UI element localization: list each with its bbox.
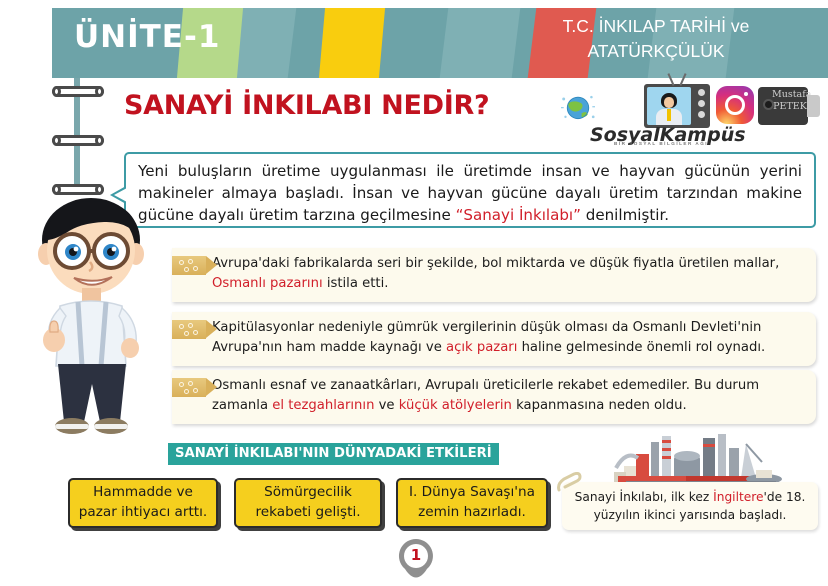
factory-illustration bbox=[596, 432, 796, 484]
tag-dot-2 bbox=[188, 381, 193, 386]
section-header: SANAYİ İNKILABI'NIN DÜNYADAKİ ETKİLERİ bbox=[168, 443, 499, 465]
paperclip-icon bbox=[556, 472, 582, 494]
info-note-text: Sanayi İnkılabı, ilk kez İngiltere'de 18… bbox=[572, 488, 808, 525]
tag-dot-4 bbox=[193, 266, 198, 271]
bullet-part-1: Avrupa'daki fabrikalarda seri bir şekild… bbox=[212, 256, 779, 271]
tag-dot-1 bbox=[179, 324, 184, 329]
course-title-line-2: ATATÜRKÇÜLÜK bbox=[506, 39, 806, 64]
instagram-icon[interactable] bbox=[716, 86, 754, 124]
definition-part-2: denilmiştir. bbox=[581, 206, 669, 224]
bullet-tag-icon bbox=[172, 256, 206, 275]
bullet-highlight-1: açık pazarı bbox=[446, 340, 517, 355]
bullet-part-2: istila etti. bbox=[323, 276, 389, 291]
effect-line-2: rekabeti gelişti. bbox=[255, 503, 360, 523]
effect-line-1: I. Dünya Savaşı'na bbox=[409, 483, 535, 503]
course-title-line-1: T.C. İNKILAP TARİHİ ve bbox=[506, 14, 806, 39]
usb-connector bbox=[807, 95, 820, 117]
globe-icon bbox=[560, 90, 596, 124]
teacher-tie bbox=[667, 109, 671, 121]
teacher-face bbox=[664, 97, 674, 108]
bullet-item: Avrupa'daki fabrikalarda seri bir şekild… bbox=[172, 248, 816, 302]
usb-brand-line-1: Mustafa bbox=[772, 89, 808, 101]
brand-tagline: BİR SOSYAL BİLGİLER AĞI bbox=[614, 141, 708, 146]
effect-box: Hammadde ve pazar ihtiyacı arttı. bbox=[68, 478, 218, 528]
page-number: 1 bbox=[396, 546, 436, 564]
slide-page: ÜNİTE-1 T.C. İNKILAP TARİHİ ve ATATÜRKÇÜ… bbox=[0, 0, 828, 586]
definition-box: Yeni buluşların üretime uygulanması ile … bbox=[124, 152, 816, 228]
unit-label: ÜNİTE-1 bbox=[74, 19, 220, 55]
tag-dot-1 bbox=[179, 382, 184, 387]
tv-knob-2 bbox=[698, 100, 705, 107]
ribbon-yellow bbox=[318, 8, 385, 78]
tag-dot-4 bbox=[193, 388, 198, 393]
info-note-highlight: İngiltere bbox=[713, 490, 763, 504]
usb-drive-icon: Mustafa PETEK bbox=[758, 87, 820, 125]
page-title: SANAYİ İNKILABI NEDİR? bbox=[124, 90, 489, 121]
tag-dot-2 bbox=[188, 323, 193, 328]
info-note-part-1: Sanayi İnkılabı, ilk kez bbox=[575, 490, 713, 504]
definition-highlight: “Sanayi İnkılabı” bbox=[456, 206, 581, 224]
bullet-text: Avrupa'daki fabrikalarda seri bir şekild… bbox=[212, 254, 803, 294]
usb-brand-line-2: PETEK bbox=[772, 101, 808, 113]
tag-dot-1 bbox=[179, 260, 184, 265]
tag-dot-3 bbox=[184, 267, 189, 272]
binding-ring-1 bbox=[52, 86, 104, 97]
effect-line-1: Sömürgecilik bbox=[264, 483, 352, 503]
tag-dot-3 bbox=[184, 389, 189, 394]
bullet-highlight-1: el tezgahlarının bbox=[272, 398, 374, 413]
instagram-dot bbox=[744, 92, 748, 96]
bullet-tag-icon bbox=[172, 320, 206, 339]
usb-brand-text: Mustafa PETEK bbox=[772, 89, 808, 113]
bullet-part-3: kapanmasına neden oldu. bbox=[512, 398, 687, 413]
effect-box: Sömürgecilik rekabeti gelişti. bbox=[234, 478, 382, 528]
effect-line-2: pazar ihtiyacı arttı. bbox=[79, 503, 207, 523]
tag-dot-4 bbox=[193, 330, 198, 335]
brand-logo-cluster: Mustafa PETEK SosyalKampüs BİR SOSYAL Bİ… bbox=[552, 84, 820, 146]
bullet-item: Kapitülasyonlar nedeniyle gümrük vergile… bbox=[172, 312, 816, 366]
header-banner: ÜNİTE-1 T.C. İNKILAP TARİHİ ve ATATÜRKÇÜ… bbox=[52, 8, 828, 78]
bullet-item: Osmanlı esnaf ve zanaatkârları, Avrupalı… bbox=[172, 370, 816, 424]
bullet-text: Osmanlı esnaf ve zanaatkârları, Avrupalı… bbox=[212, 376, 803, 416]
definition-text: Yeni buluşların üretime uygulanması ile … bbox=[138, 160, 802, 226]
bullet-text: Kapitülasyonlar nedeniyle gümrük vergile… bbox=[212, 318, 803, 358]
tag-dot-2 bbox=[188, 259, 193, 264]
info-note-box: Sanayi İnkılabı, ilk kez İngiltere'de 18… bbox=[562, 482, 818, 530]
page-number-pin: 1 bbox=[396, 538, 436, 582]
bullet-part-2: haline gelmesinde önemli rol oynadı. bbox=[517, 340, 765, 355]
bullet-tag-icon bbox=[172, 378, 206, 397]
tv-knob-1 bbox=[698, 89, 705, 96]
tag-dot-3 bbox=[184, 331, 189, 336]
effect-line-2: zemin hazırladı. bbox=[418, 503, 526, 523]
bullet-part-2: ve bbox=[374, 398, 398, 413]
usb-body: Mustafa PETEK bbox=[758, 87, 808, 125]
effect-box: I. Dünya Savaşı'na zemin hazırladı. bbox=[396, 478, 548, 528]
bullet-highlight-1: Osmanlı pazarını bbox=[212, 276, 323, 291]
tv-screen bbox=[647, 87, 691, 125]
instagram-lens bbox=[725, 95, 745, 115]
bullet-highlight-2: küçük atölyelerin bbox=[399, 398, 512, 413]
student-mascot-illustration bbox=[16, 188, 166, 438]
effect-line-1: Hammadde ve bbox=[93, 483, 193, 503]
tv-teacher-icon bbox=[644, 84, 710, 128]
binding-ring-2 bbox=[52, 135, 104, 146]
tv-knob-3 bbox=[698, 111, 705, 118]
course-title: T.C. İNKILAP TARİHİ ve ATATÜRKÇÜLÜK bbox=[506, 14, 806, 65]
